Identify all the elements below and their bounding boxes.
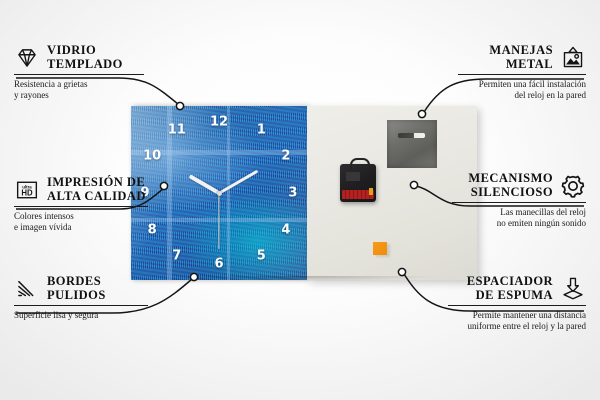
feature-impresion-alta-calidad: ultra HD IMPRESIÓN DE ALTA CALIDAD Color… (14, 176, 148, 233)
feature-divider (458, 74, 586, 75)
clock-numeral-1: 1 (257, 124, 266, 137)
feature-header: BORDES PULIDOS (14, 275, 148, 302)
clock-numeral-2: 2 (281, 150, 290, 163)
hanger-slot (398, 133, 425, 138)
clock-numeral-11: 11 (168, 124, 186, 137)
mechanism-dial (346, 172, 360, 181)
feature-description: Colores intensos e imagen vívida (14, 211, 148, 233)
foam-spacer (373, 242, 387, 255)
feature-divider (14, 74, 144, 75)
wall-hanging-frame-icon (560, 45, 586, 71)
feature-title: IMPRESIÓN DE ALTA CALIDAD (47, 176, 146, 203)
feature-title: BORDES PULIDOS (47, 275, 106, 302)
battery-terminal (369, 188, 373, 195)
clock-front-image: 12 1 2 3 4 5 6 7 8 9 10 11 (131, 106, 307, 280)
feature-description: Permiten una fácil instalación del reloj… (458, 79, 586, 101)
feature-header: MECANISMO SILENCIOSO (452, 172, 586, 199)
metal-hanger-plate (387, 120, 437, 168)
feature-manejas-metal: MANEJAS METAL Permiten una fácil instala… (458, 44, 586, 101)
feature-header: VIDRIO TEMPLADO (14, 44, 144, 71)
clock-numeral-3: 3 (288, 187, 297, 200)
feature-title: MECANISMO SILENCIOSO (468, 172, 553, 199)
infographic-canvas: 12 1 2 3 4 5 6 7 8 9 10 11 (0, 0, 600, 400)
foam-spacer-icon (560, 276, 586, 302)
clock-numeral-12: 12 (210, 116, 228, 129)
feature-espaciador-espuma: ESPACIADOR DE ESPUMA Permite mantener un… (448, 275, 586, 332)
feature-title: VIDRIO TEMPLADO (47, 44, 123, 71)
feature-vidrio-templado: VIDRIO TEMPLADO Resistencia a grietas y … (14, 44, 144, 101)
feature-divider (14, 305, 148, 306)
clock-numeral-4: 4 (281, 224, 290, 237)
clock-numeral-8: 8 (148, 224, 157, 237)
feature-title: ESPACIADOR DE ESPUMA (467, 275, 553, 302)
polished-edges-icon (14, 276, 40, 302)
clock-numeral-5: 5 (257, 250, 266, 263)
clock-numeral-7: 7 (172, 250, 181, 263)
feature-header: MANEJAS METAL (458, 44, 586, 71)
feature-divider (14, 206, 148, 207)
ultra-hd-icon: ultra HD (14, 177, 40, 203)
feature-title: MANEJAS METAL (489, 44, 553, 71)
feature-header: ESPACIADOR DE ESPUMA (448, 275, 586, 302)
feature-description: Las manecillas del reloj no emiten ningú… (452, 207, 586, 229)
clock-numeral-6: 6 (214, 258, 223, 271)
clock-numeral-10: 10 (143, 150, 161, 163)
mechanism-hook (350, 158, 370, 170)
feature-description: Superficie lisa y segura (14, 310, 148, 321)
feature-header: ultra HD IMPRESIÓN DE ALTA CALIDAD (14, 176, 148, 203)
feature-description: Resistencia a grietas y rayones (14, 79, 144, 101)
feature-divider (448, 305, 586, 306)
battery-compartment (342, 190, 374, 199)
feature-mecanismo-silencioso: MECANISMO SILENCIOSO Las manecillas del … (452, 172, 586, 229)
feature-description: Permite mantener una distancia uniforme … (448, 310, 586, 332)
product-image-group: 12 1 2 3 4 5 6 7 8 9 10 11 (131, 106, 477, 280)
feature-divider (452, 202, 586, 203)
clock-center-cap (217, 191, 222, 196)
feature-bordes-pulidos: BORDES PULIDOS Superficie lisa y segura (14, 275, 148, 321)
gear-icon (560, 173, 586, 199)
svg-text:HD: HD (21, 188, 33, 197)
diamond-icon (14, 45, 40, 71)
clock-mechanism (340, 164, 376, 202)
